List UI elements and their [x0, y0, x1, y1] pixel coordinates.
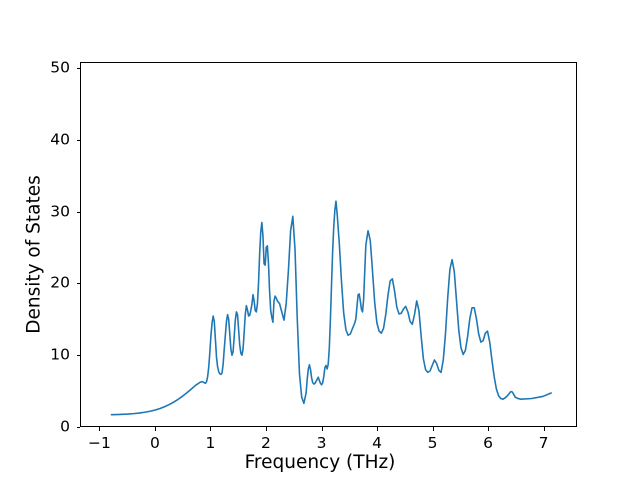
xtick-label-7: 7 — [539, 436, 549, 452]
xtick-label-2: 2 — [261, 436, 271, 452]
xtick-label-5: 5 — [428, 436, 438, 452]
xtick-label-3: 3 — [317, 436, 327, 452]
ytick-label-10: 10 — [40, 347, 70, 363]
xtick-label-4: 4 — [372, 436, 382, 452]
dos-curve — [111, 201, 551, 414]
xtick-mark-3 — [322, 427, 323, 431]
xtick-label-1: 1 — [205, 436, 215, 452]
xtick-mark-7 — [544, 427, 545, 431]
xtick-mark-6 — [488, 427, 489, 431]
plot-axes — [80, 62, 577, 427]
xtick-mark-neg1 — [99, 427, 100, 431]
ytick-mark-0 — [77, 427, 81, 428]
ytick-label-50: 50 — [40, 60, 70, 76]
xtick-label-0: 0 — [150, 436, 160, 452]
dos-line-chart — [81, 63, 576, 426]
xtick-mark-5 — [433, 427, 434, 431]
y-axis-label: Density of States — [24, 75, 45, 435]
ytick-label-40: 40 — [40, 132, 70, 148]
xtick-mark-0 — [155, 427, 156, 431]
figure-canvas: 0 10 20 30 40 50 −1 0 1 2 3 4 5 6 7 Freq… — [0, 0, 640, 480]
xtick-mark-4 — [377, 427, 378, 431]
ytick-label-30: 30 — [40, 204, 70, 220]
xtick-mark-2 — [266, 427, 267, 431]
xtick-label-6: 6 — [483, 436, 493, 452]
xtick-label-neg1: −1 — [88, 436, 111, 452]
xtick-mark-1 — [210, 427, 211, 431]
ytick-label-20: 20 — [40, 276, 70, 292]
x-axis-label: Frequency (THz) — [0, 452, 640, 473]
ytick-label-0: 0 — [40, 419, 70, 435]
